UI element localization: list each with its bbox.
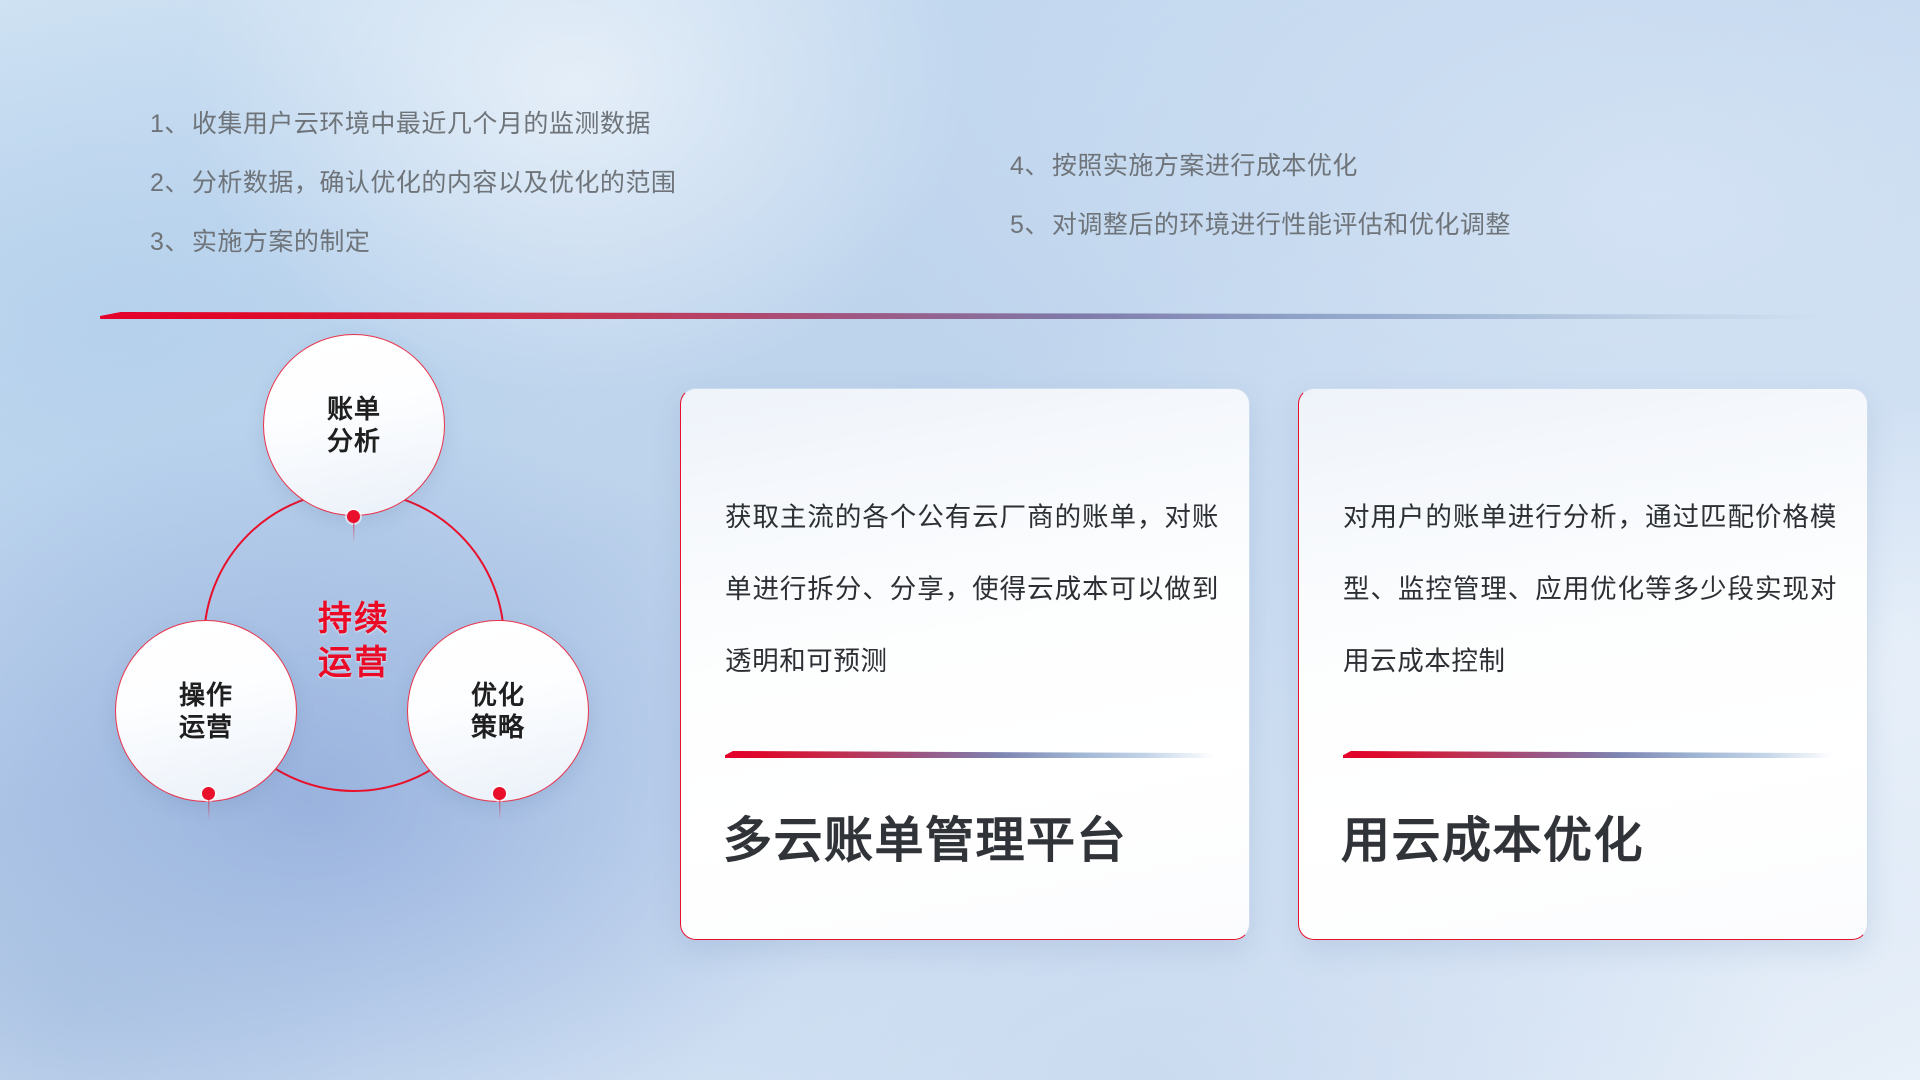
step-text: 对调整后的环境进行性能评估和优化调整: [1052, 213, 1511, 238]
cycle-bubble-billing-analysis[interactable]: 账单 分析: [263, 334, 445, 516]
step-item: 4、 按照实施方案进行成本优化: [1010, 154, 1511, 179]
step-number: 4、: [1010, 154, 1050, 179]
bubble-line1: 优化: [471, 679, 525, 712]
feature-card-cloud-cost-optimization[interactable]: 对用户的账单进行分析，通过匹配价格模型、监控管理、应用优化等多少段实现对用云成本…: [1298, 388, 1868, 940]
step-text: 分析数据，确认优化的内容以及优化的范围: [192, 171, 677, 196]
step-number: 2、: [150, 171, 190, 196]
cycle-bubble-operations[interactable]: 操作 运营: [115, 620, 297, 802]
card-divider: [1343, 751, 1833, 758]
slide-canvas: 1、 收集用户云环境中最近几个月的监测数据 2、 分析数据，确认优化的内容以及优…: [0, 0, 1920, 1080]
cycle-node-dot-top: [347, 510, 360, 523]
step-number: 5、: [1010, 213, 1050, 238]
card-title: 用云成本优化: [1341, 801, 1644, 872]
step-item: 1、 收集用户云环境中最近几个月的监测数据: [150, 112, 676, 137]
feature-card-multicloud-billing[interactable]: 获取主流的各个公有云厂商的账单，对账单进行拆分、分享，使得云成本可以做到透明和可…: [680, 388, 1250, 940]
step-item: 5、 对调整后的环境进行性能评估和优化调整: [1010, 213, 1511, 238]
cycle-diagram: 持续 运营 账单 分析 操作 运营 优化 策略: [95, 350, 655, 950]
step-text: 实施方案的制定: [192, 230, 371, 255]
bubble-line2: 策略: [471, 711, 525, 744]
steps-column-left: 1、 收集用户云环境中最近几个月的监测数据 2、 分析数据，确认优化的内容以及优…: [150, 112, 676, 289]
card-body-text: 获取主流的各个公有云厂商的账单，对账单进行拆分、分享，使得云成本可以做到透明和可…: [725, 481, 1219, 697]
step-item: 3、 实施方案的制定: [150, 230, 676, 255]
bubble-line2: 运营: [179, 711, 233, 744]
card-title: 多云账单管理平台: [723, 801, 1127, 872]
cycle-center-line1: 持续: [318, 597, 390, 641]
step-number: 1、: [150, 112, 190, 137]
step-text: 按照实施方案进行成本优化: [1052, 154, 1358, 179]
header-divider: [100, 312, 1830, 319]
cycle-bubble-optimization-strategy[interactable]: 优化 策略: [407, 620, 589, 802]
steps-column-right: 4、 按照实施方案进行成本优化 5、 对调整后的环境进行性能评估和优化调整: [1010, 154, 1511, 272]
cycle-center-line2: 运营: [318, 641, 390, 685]
bubble-line1: 账单: [327, 393, 381, 426]
cycle-node-dot-left: [202, 787, 215, 800]
cycle-node-dot-right: [493, 787, 506, 800]
step-number: 3、: [150, 230, 190, 255]
step-item: 2、 分析数据，确认优化的内容以及优化的范围: [150, 171, 676, 196]
bubble-line2: 分析: [327, 425, 381, 458]
card-body-text: 对用户的账单进行分析，通过匹配价格模型、监控管理、应用优化等多少段实现对用云成本…: [1343, 481, 1837, 697]
step-text: 收集用户云环境中最近几个月的监测数据: [192, 112, 651, 137]
card-divider: [725, 751, 1215, 758]
bubble-line1: 操作: [179, 679, 233, 712]
